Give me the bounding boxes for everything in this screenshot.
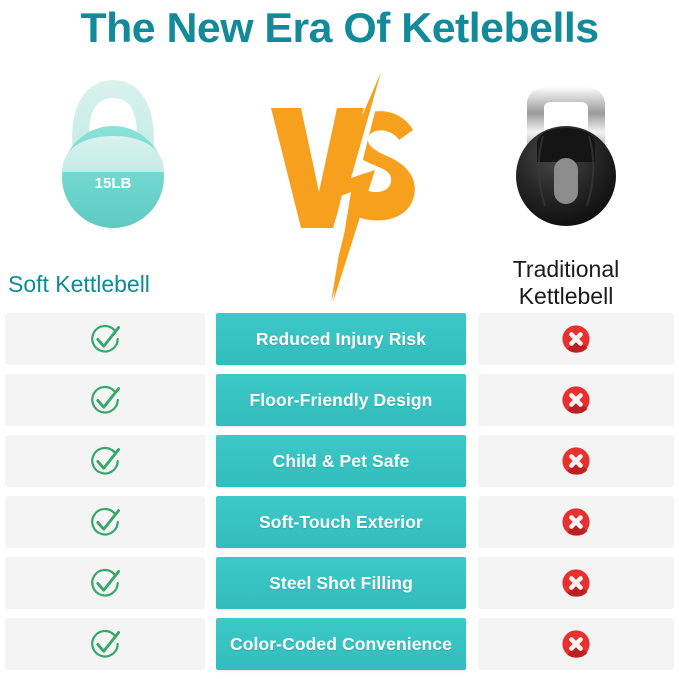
check-circle-icon: [88, 383, 122, 417]
comparison-table: Reduced Injury Risk Floor-Friendly Desig…: [0, 313, 679, 679]
soft-kettlebell-label: Soft Kettlebell: [0, 271, 226, 298]
comparison-row: Floor-Friendly Design: [0, 374, 679, 426]
traditional-kettlebell-cell: [478, 313, 674, 365]
traditional-kettlebell-cell: [478, 496, 674, 548]
check-circle-icon: [88, 566, 122, 600]
feature-pill: Floor-Friendly Design: [216, 374, 466, 426]
traditional-kettlebell-image: [491, 66, 641, 231]
cross-circle-icon: [560, 384, 592, 416]
product-column-soft: 15LB Soft Kettlebell: [0, 60, 226, 310]
comparison-row: Soft-Touch Exterior: [0, 496, 679, 548]
feature-label: Floor-Friendly Design: [250, 390, 433, 411]
traditional-label-line2: Kettlebell: [453, 283, 679, 310]
page-title: The New Era Of Ketlebells: [0, 0, 679, 56]
feature-pill: Reduced Injury Risk: [216, 313, 466, 365]
feature-label: Soft-Touch Exterior: [259, 512, 423, 533]
soft-kettlebell-cell: [5, 435, 205, 487]
soft-kettlebell-cell: [5, 374, 205, 426]
check-circle-icon: [88, 505, 122, 539]
cross-circle-icon: [560, 567, 592, 599]
comparison-row: Color-Coded Convenience: [0, 618, 679, 670]
comparison-row: Child & Pet Safe: [0, 435, 679, 487]
feature-label: Steel Shot Filling: [269, 573, 413, 594]
feature-label: Child & Pet Safe: [273, 451, 410, 472]
feature-pill: Child & Pet Safe: [216, 435, 466, 487]
cross-circle-icon: [560, 445, 592, 477]
comparison-row: Reduced Injury Risk: [0, 313, 679, 365]
cross-circle-icon: [560, 628, 592, 660]
soft-kettlebell-image: 15LB: [38, 66, 188, 231]
soft-kettlebell-cell: [5, 496, 205, 548]
check-circle-icon: [88, 627, 122, 661]
cross-circle-icon: [560, 323, 592, 355]
cross-circle-icon: [560, 506, 592, 538]
feature-pill: Color-Coded Convenience: [216, 618, 466, 670]
check-circle-icon: [88, 322, 122, 356]
traditional-kettlebell-cell: [478, 374, 674, 426]
feature-label: Color-Coded Convenience: [230, 634, 452, 655]
versus-badge: [253, 72, 433, 302]
product-column-traditional: Traditional Kettlebell: [453, 60, 679, 310]
soft-kettlebell-cell: [5, 557, 205, 609]
weight-badge-label: 15LB: [95, 175, 132, 192]
feature-pill: Steel Shot Filling: [216, 557, 466, 609]
feature-label: Reduced Injury Risk: [256, 329, 426, 350]
traditional-kettlebell-cell: [478, 557, 674, 609]
feature-pill: Soft-Touch Exterior: [216, 496, 466, 548]
traditional-kettlebell-cell: [478, 435, 674, 487]
traditional-kettlebell-cell: [478, 618, 674, 670]
soft-kettlebell-cell: [5, 313, 205, 365]
soft-kettlebell-cell: [5, 618, 205, 670]
hero-comparison: 15LB Soft Kettlebell: [0, 60, 679, 310]
traditional-label-line1: Traditional: [453, 256, 679, 283]
check-circle-icon: [88, 444, 122, 478]
traditional-kettlebell-label: Traditional Kettlebell: [453, 256, 679, 310]
comparison-row: Steel Shot Filling: [0, 557, 679, 609]
